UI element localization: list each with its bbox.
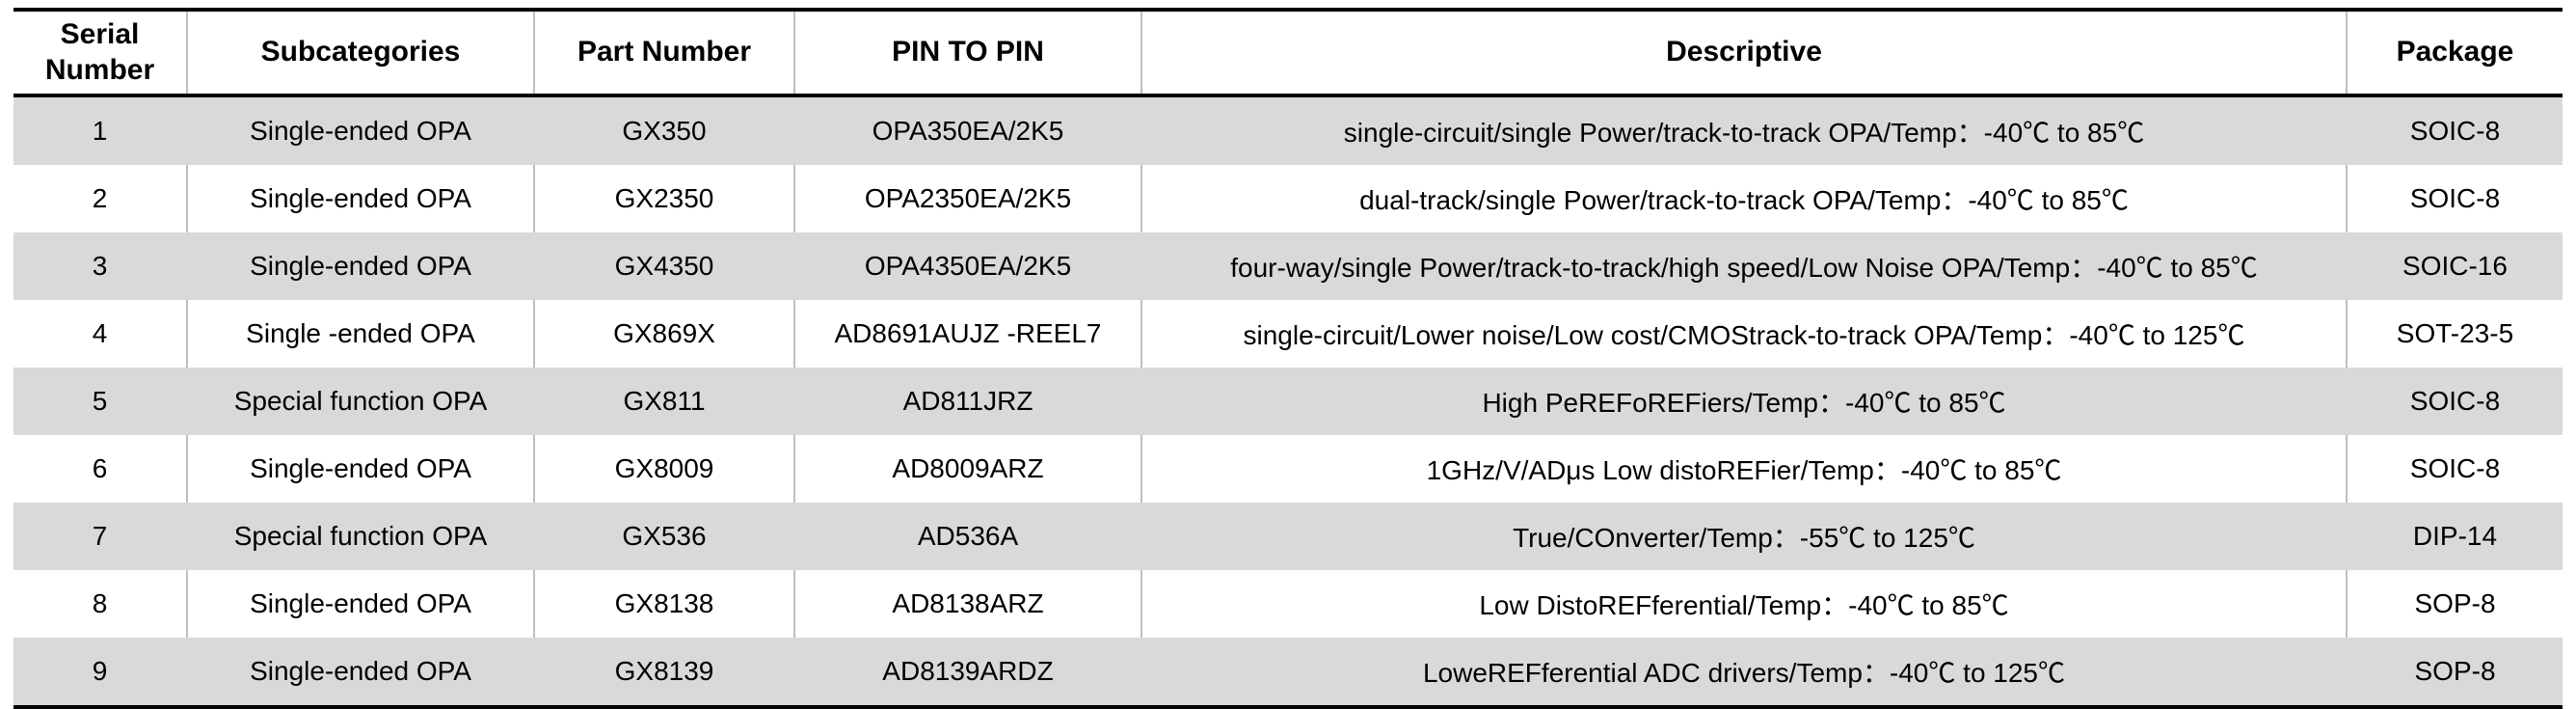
table-row: 7 Special function OPA GX536 AD536A True…	[13, 503, 2563, 570]
cell-serial-number: 4	[13, 300, 187, 368]
cell-subcategory: Single-ended OPA	[187, 95, 534, 165]
cell-pin-to-pin: AD536A	[794, 503, 1141, 570]
cell-pin-to-pin: OPA4350EA/2K5	[794, 232, 1141, 300]
cell-subcategory: Special function OPA	[187, 503, 534, 570]
cell-package: SOT-23-5	[2347, 300, 2563, 368]
table-row: 4 Single -ended OPA GX869X AD8691AUJZ -R…	[13, 300, 2563, 368]
spec-table-container: Serial Number Subcategories Part Number …	[13, 8, 2563, 709]
cell-pin-to-pin: AD8138ARZ	[794, 570, 1141, 638]
cell-subcategory: Single -ended OPA	[187, 300, 534, 368]
table-row: 5 Special function OPA GX811 AD811JRZ Hi…	[13, 368, 2563, 435]
cell-subcategory: Single-ended OPA	[187, 570, 534, 638]
cell-descriptive: dual-track/single Power/track-to-track O…	[1141, 165, 2347, 232]
cell-package: SOIC-8	[2347, 165, 2563, 232]
cell-serial-number: 1	[13, 95, 187, 165]
cell-descriptive: four-way/single Power/track-to-track/hig…	[1141, 232, 2347, 300]
cell-serial-number: 9	[13, 638, 187, 707]
cell-package: SOIC-8	[2347, 368, 2563, 435]
table-header-row: Serial Number Subcategories Part Number …	[13, 10, 2563, 95]
table-row: 6 Single-ended OPA GX8009 AD8009ARZ 1GHz…	[13, 435, 2563, 503]
cell-subcategory: Special function OPA	[187, 368, 534, 435]
cell-subcategory: Single-ended OPA	[187, 638, 534, 707]
cell-package: SOIC-8	[2347, 95, 2563, 165]
cell-pin-to-pin: AD8691AUJZ -REEL7	[794, 300, 1141, 368]
cell-serial-number: 6	[13, 435, 187, 503]
column-header-subcategories: Subcategories	[187, 10, 534, 95]
cell-descriptive: single-circuit/Lower noise/Low cost/CMOS…	[1141, 300, 2347, 368]
table-body: 1 Single-ended OPA GX350 OPA350EA/2K5 si…	[13, 95, 2563, 707]
cell-pin-to-pin: OPA2350EA/2K5	[794, 165, 1141, 232]
cell-part-number: GX869X	[534, 300, 794, 368]
table-row: 3 Single-ended OPA GX4350 OPA4350EA/2K5 …	[13, 232, 2563, 300]
cell-descriptive: Low DistoREFferential/Temp：-40℃ to 85℃	[1141, 570, 2347, 638]
cell-pin-to-pin: OPA350EA/2K5	[794, 95, 1141, 165]
cell-package: SOIC-8	[2347, 435, 2563, 503]
cell-serial-number: 8	[13, 570, 187, 638]
cell-package: DIP-14	[2347, 503, 2563, 570]
cell-descriptive: True/COnverter/Temp：-55℃ to 125℃	[1141, 503, 2347, 570]
cell-subcategory: Single-ended OPA	[187, 232, 534, 300]
cell-serial-number: 7	[13, 503, 187, 570]
table-header: Serial Number Subcategories Part Number …	[13, 10, 2563, 95]
cell-part-number: GX4350	[534, 232, 794, 300]
column-header-package: Package	[2347, 10, 2563, 95]
cell-part-number: GX536	[534, 503, 794, 570]
column-header-part-number: Part Number	[534, 10, 794, 95]
cell-part-number: GX2350	[534, 165, 794, 232]
cell-part-number: GX811	[534, 368, 794, 435]
cell-descriptive: LoweREFferential ADC drivers/Temp：-40℃ t…	[1141, 638, 2347, 707]
cell-serial-number: 5	[13, 368, 187, 435]
table-row: 9 Single-ended OPA GX8139 AD8139ARDZ Low…	[13, 638, 2563, 707]
cell-part-number: GX8139	[534, 638, 794, 707]
column-header-pin-to-pin: PIN TO PIN	[794, 10, 1141, 95]
cell-serial-number: 2	[13, 165, 187, 232]
table-row: 8 Single-ended OPA GX8138 AD8138ARZ Low …	[13, 570, 2563, 638]
cell-descriptive: single-circuit/single Power/track-to-tra…	[1141, 95, 2347, 165]
table-row: 1 Single-ended OPA GX350 OPA350EA/2K5 si…	[13, 95, 2563, 165]
column-header-serial-number: Serial Number	[13, 10, 187, 95]
cell-descriptive: 1GHz/V/ADμs Low distoREFier/Temp：-40℃ to…	[1141, 435, 2347, 503]
cell-package: SOIC-16	[2347, 232, 2563, 300]
cell-package: SOP-8	[2347, 570, 2563, 638]
cell-serial-number: 3	[13, 232, 187, 300]
cell-part-number: GX8009	[534, 435, 794, 503]
cell-part-number: GX350	[534, 95, 794, 165]
cell-pin-to-pin: AD811JRZ	[794, 368, 1141, 435]
cell-package: SOP-8	[2347, 638, 2563, 707]
operational-amplifier-selection-table: Serial Number Subcategories Part Number …	[13, 8, 2563, 709]
cell-pin-to-pin: AD8009ARZ	[794, 435, 1141, 503]
cell-part-number: GX8138	[534, 570, 794, 638]
table-row: 2 Single-ended OPA GX2350 OPA2350EA/2K5 …	[13, 165, 2563, 232]
cell-subcategory: Single-ended OPA	[187, 165, 534, 232]
column-header-descriptive: Descriptive	[1141, 10, 2347, 95]
cell-pin-to-pin: AD8139ARDZ	[794, 638, 1141, 707]
cell-descriptive: High PeREFoREFiers/Temp：-40℃ to 85℃	[1141, 368, 2347, 435]
cell-subcategory: Single-ended OPA	[187, 435, 534, 503]
